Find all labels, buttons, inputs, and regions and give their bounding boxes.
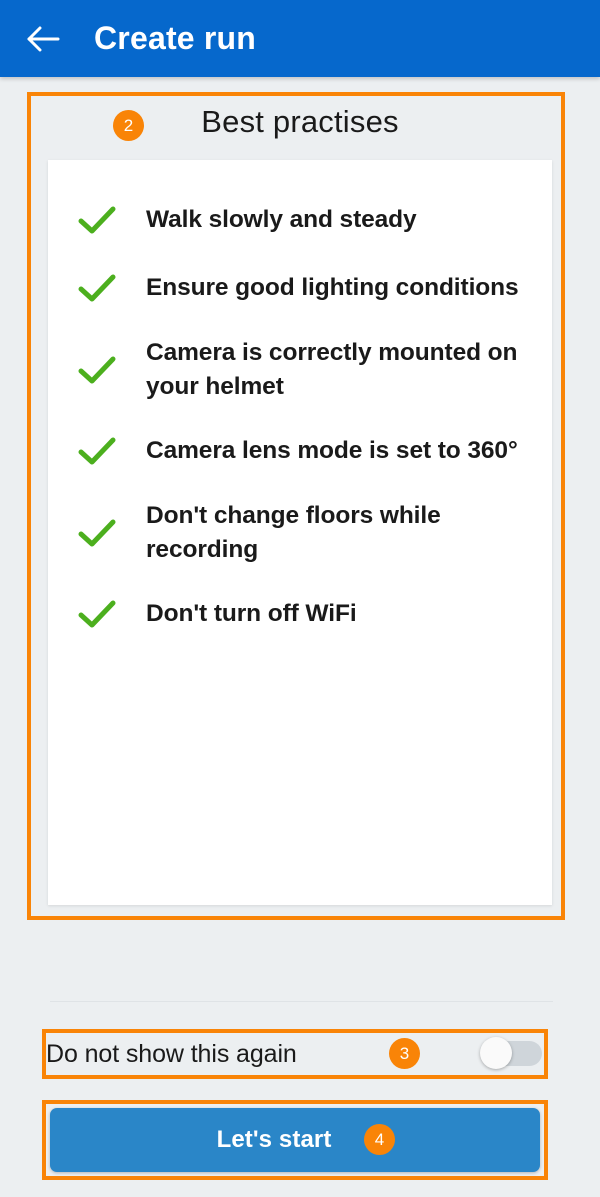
list-item: Camera lens mode is set to 360°	[48, 417, 552, 485]
divider	[50, 1001, 553, 1002]
check-icon	[48, 517, 146, 549]
step-badge-4: 4	[364, 1124, 395, 1155]
list-item-label: Don't change floors while recording	[146, 499, 530, 566]
list-item: Camera is correctly mounted on your helm…	[48, 322, 552, 417]
page-title: Create run	[94, 20, 256, 57]
list-item-label: Don't turn off WiFi	[146, 597, 357, 631]
check-icon	[48, 598, 146, 630]
check-icon	[48, 204, 146, 236]
list-item-label: Camera is correctly mounted on your helm…	[146, 336, 530, 403]
back-button[interactable]	[12, 7, 76, 71]
do-not-show-label: Do not show this again	[46, 1040, 297, 1069]
list-item: Walk slowly and steady	[48, 186, 552, 254]
create-run-screen: Create run Best practises Walk slowly an…	[0, 0, 600, 1197]
arrow-left-icon	[27, 25, 61, 53]
do-not-show-row[interactable]: Do not show this again	[46, 1033, 544, 1075]
do-not-show-toggle[interactable]	[480, 1037, 542, 1069]
check-icon	[48, 354, 146, 386]
list-item: Don't turn off WiFi	[48, 580, 552, 648]
list-item-label: Camera lens mode is set to 360°	[146, 434, 518, 468]
list-item-label: Walk slowly and steady	[146, 203, 417, 237]
toggle-knob	[480, 1037, 512, 1069]
list-item: Ensure good lighting conditions	[48, 254, 552, 322]
check-icon	[48, 435, 146, 467]
list-item-label: Ensure good lighting conditions	[146, 271, 519, 305]
lets-start-button[interactable]: Let's start	[50, 1108, 540, 1172]
app-bar: Create run	[0, 0, 600, 77]
best-practises-card: Walk slowly and steady Ensure good light…	[48, 160, 552, 905]
step-badge-3: 3	[389, 1038, 420, 1069]
list-item: Don't change floors while recording	[48, 485, 552, 580]
step-badge-2: 2	[113, 110, 144, 141]
check-icon	[48, 272, 146, 304]
